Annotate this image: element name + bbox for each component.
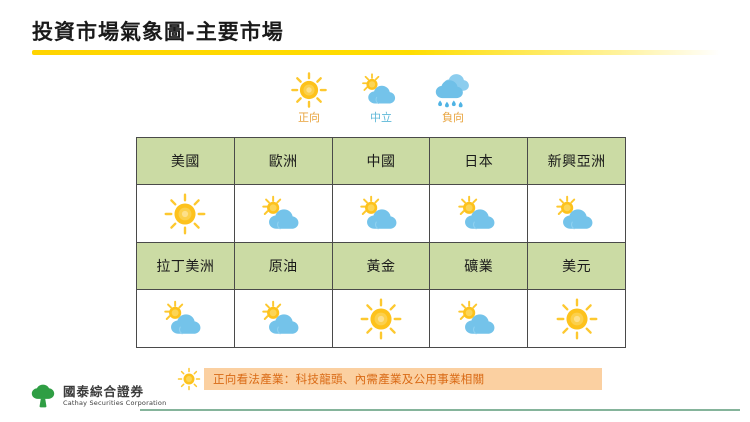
sun-icon xyxy=(333,291,430,346)
market-label-cell: 中國 xyxy=(332,138,430,185)
outlook-icon-cell xyxy=(430,290,528,348)
sun-behind-cloud-icon xyxy=(235,186,332,241)
legend-label-neutral: 中立 xyxy=(370,111,392,125)
sun-icon xyxy=(176,366,202,392)
sun-behind-cloud-icon xyxy=(430,186,527,241)
sun-icon xyxy=(290,70,328,110)
page-title: 投資市場氣象圖-主要市場 xyxy=(32,18,722,46)
outlook-icon-cell xyxy=(332,290,430,348)
footnote: 正向看法產業：科技龍頭、內需產業及公用事業相關 xyxy=(176,366,602,392)
title-underline-rule xyxy=(32,50,720,55)
company-name-en: Cathay Securities Corporation xyxy=(63,399,166,408)
table-row-market-icons-1 xyxy=(137,185,626,243)
sun-behind-cloud-icon xyxy=(528,186,625,241)
market-label-cell: 礦業 xyxy=(430,243,528,290)
market-outlook-table: 美國 歐洲 中國 日本 新興亞洲 xyxy=(136,137,626,348)
legend-label-positive: 正向 xyxy=(298,111,320,125)
market-label-cell: 黃金 xyxy=(332,243,430,290)
footnote-text: 正向看法產業：科技龍頭、內需產業及公用事業相關 xyxy=(213,371,484,387)
table-row-market-icons-2 xyxy=(137,290,626,348)
sun-icon xyxy=(528,291,625,346)
sun-behind-cloud-icon xyxy=(360,70,402,110)
page-title-block: 投資市場氣象圖-主要市場 xyxy=(32,18,722,55)
logo-wordmark: 國泰綜合證券 Cathay Securities Corporation xyxy=(63,385,166,408)
market-label-cell: 日本 xyxy=(430,138,528,185)
table-row-market-labels-1: 美國 歐洲 中國 日本 新興亞洲 xyxy=(137,138,626,185)
market-label-cell: 美國 xyxy=(137,138,235,185)
market-label-cell: 原油 xyxy=(234,243,332,290)
slide-root: 投資市場氣象圖-主要市場 xyxy=(0,0,750,422)
sun-behind-cloud-icon xyxy=(235,291,332,346)
outlook-icon-cell xyxy=(528,185,626,243)
footer-divider-rule xyxy=(140,409,740,411)
tree-logo-icon xyxy=(28,382,58,410)
market-label-cell: 歐洲 xyxy=(234,138,332,185)
outlook-icon-cell xyxy=(234,290,332,348)
rain-cloud-icon xyxy=(432,70,474,110)
company-logo: 國泰綜合證券 Cathay Securities Corporation xyxy=(28,382,166,410)
legend: 正向 中立 xyxy=(276,70,486,125)
outlook-icon-cell xyxy=(528,290,626,348)
footnote-banner: 正向看法產業：科技龍頭、內需產業及公用事業相關 xyxy=(204,368,602,390)
outlook-icon-cell xyxy=(332,185,430,243)
legend-item-positive: 正向 xyxy=(276,70,342,125)
outlook-icon-cell xyxy=(234,185,332,243)
sun-icon xyxy=(137,186,234,241)
legend-item-neutral: 中立 xyxy=(348,70,414,125)
company-name-cn: 國泰綜合證券 xyxy=(63,385,166,399)
table-row-market-labels-2: 拉丁美洲 原油 黃金 礦業 美元 xyxy=(137,243,626,290)
outlook-icon-cell xyxy=(430,185,528,243)
legend-label-negative: 負向 xyxy=(442,111,464,125)
sun-behind-cloud-icon xyxy=(430,291,527,346)
outlook-icon-cell xyxy=(137,290,235,348)
sun-behind-cloud-icon xyxy=(137,291,234,346)
outlook-icon-cell xyxy=(137,185,235,243)
market-label-cell: 美元 xyxy=(528,243,626,290)
sun-behind-cloud-icon xyxy=(333,186,430,241)
market-label-cell: 拉丁美洲 xyxy=(137,243,235,290)
market-label-cell: 新興亞洲 xyxy=(528,138,626,185)
legend-item-negative: 負向 xyxy=(420,70,486,125)
